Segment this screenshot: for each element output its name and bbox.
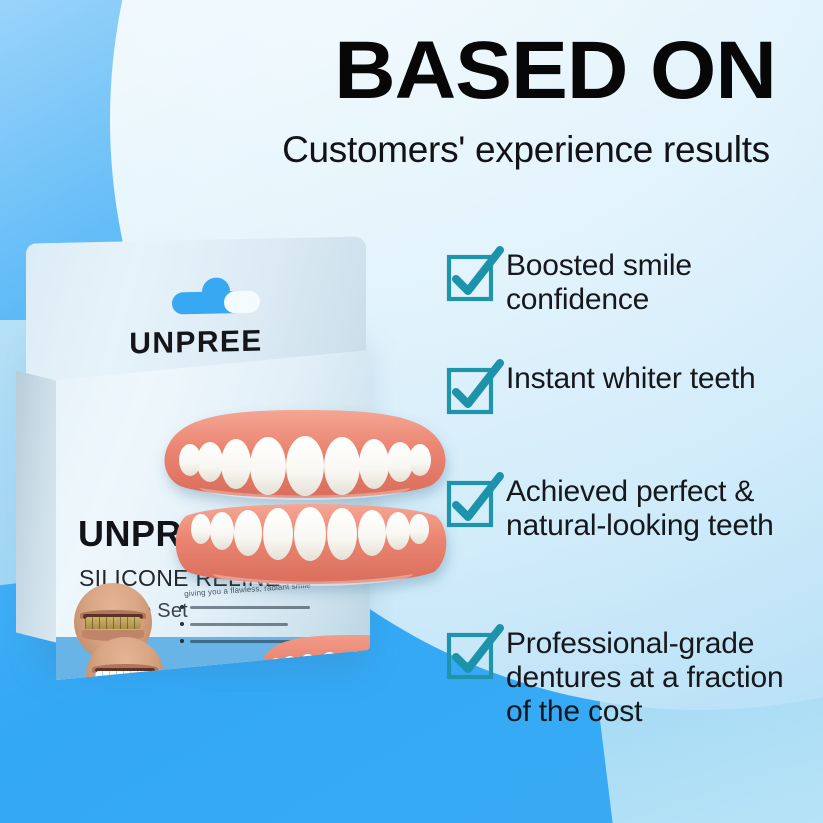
bullet-text-line [190,623,288,626]
bullet-dot-icon [180,622,184,626]
page-subtitle: Customers' experience results [232,131,820,170]
checkbox-check-icon [444,628,506,680]
carton-bullet-item [180,605,360,609]
bullet-dot-icon [180,605,184,609]
benefit-item-achieved-perfect-natural-looking-teeth: Achieved perfect & natural-looking teeth [444,474,816,543]
benefit-label: Instant whiter teeth [506,361,816,396]
carton-bullet-item [180,622,360,626]
page-title: BASED ON [290,32,820,110]
benefit-label: Professional-grade dentures at a fractio… [506,626,816,729]
bullet-dot-icon [180,639,184,643]
checkbox-check-icon [444,250,506,302]
bullet-text-line [190,606,310,609]
before-photo-stained-teeth [85,617,141,629]
benefit-item-boosted-smile-confidence: Boosted smile confidence [444,248,816,317]
checkbox-check-icon [444,476,506,528]
benefit-item-instant-whiter-teeth: Instant whiter teeth [444,361,816,415]
checkbox-check-icon [444,363,506,415]
hero-upper-veneer [160,410,450,502]
euro-hang-hole-highlight [224,291,260,314]
advertisement-canvas: BASED ON Customers' experience results B… [0,0,823,823]
benefit-item-professional-grade-dentures: Professional-grade dentures at a fractio… [444,626,816,729]
benefit-label: Achieved perfect & natural-looking teeth [506,474,816,543]
benefit-label: Boosted smile confidence [506,248,816,317]
hero-lower-veneer [168,500,453,588]
